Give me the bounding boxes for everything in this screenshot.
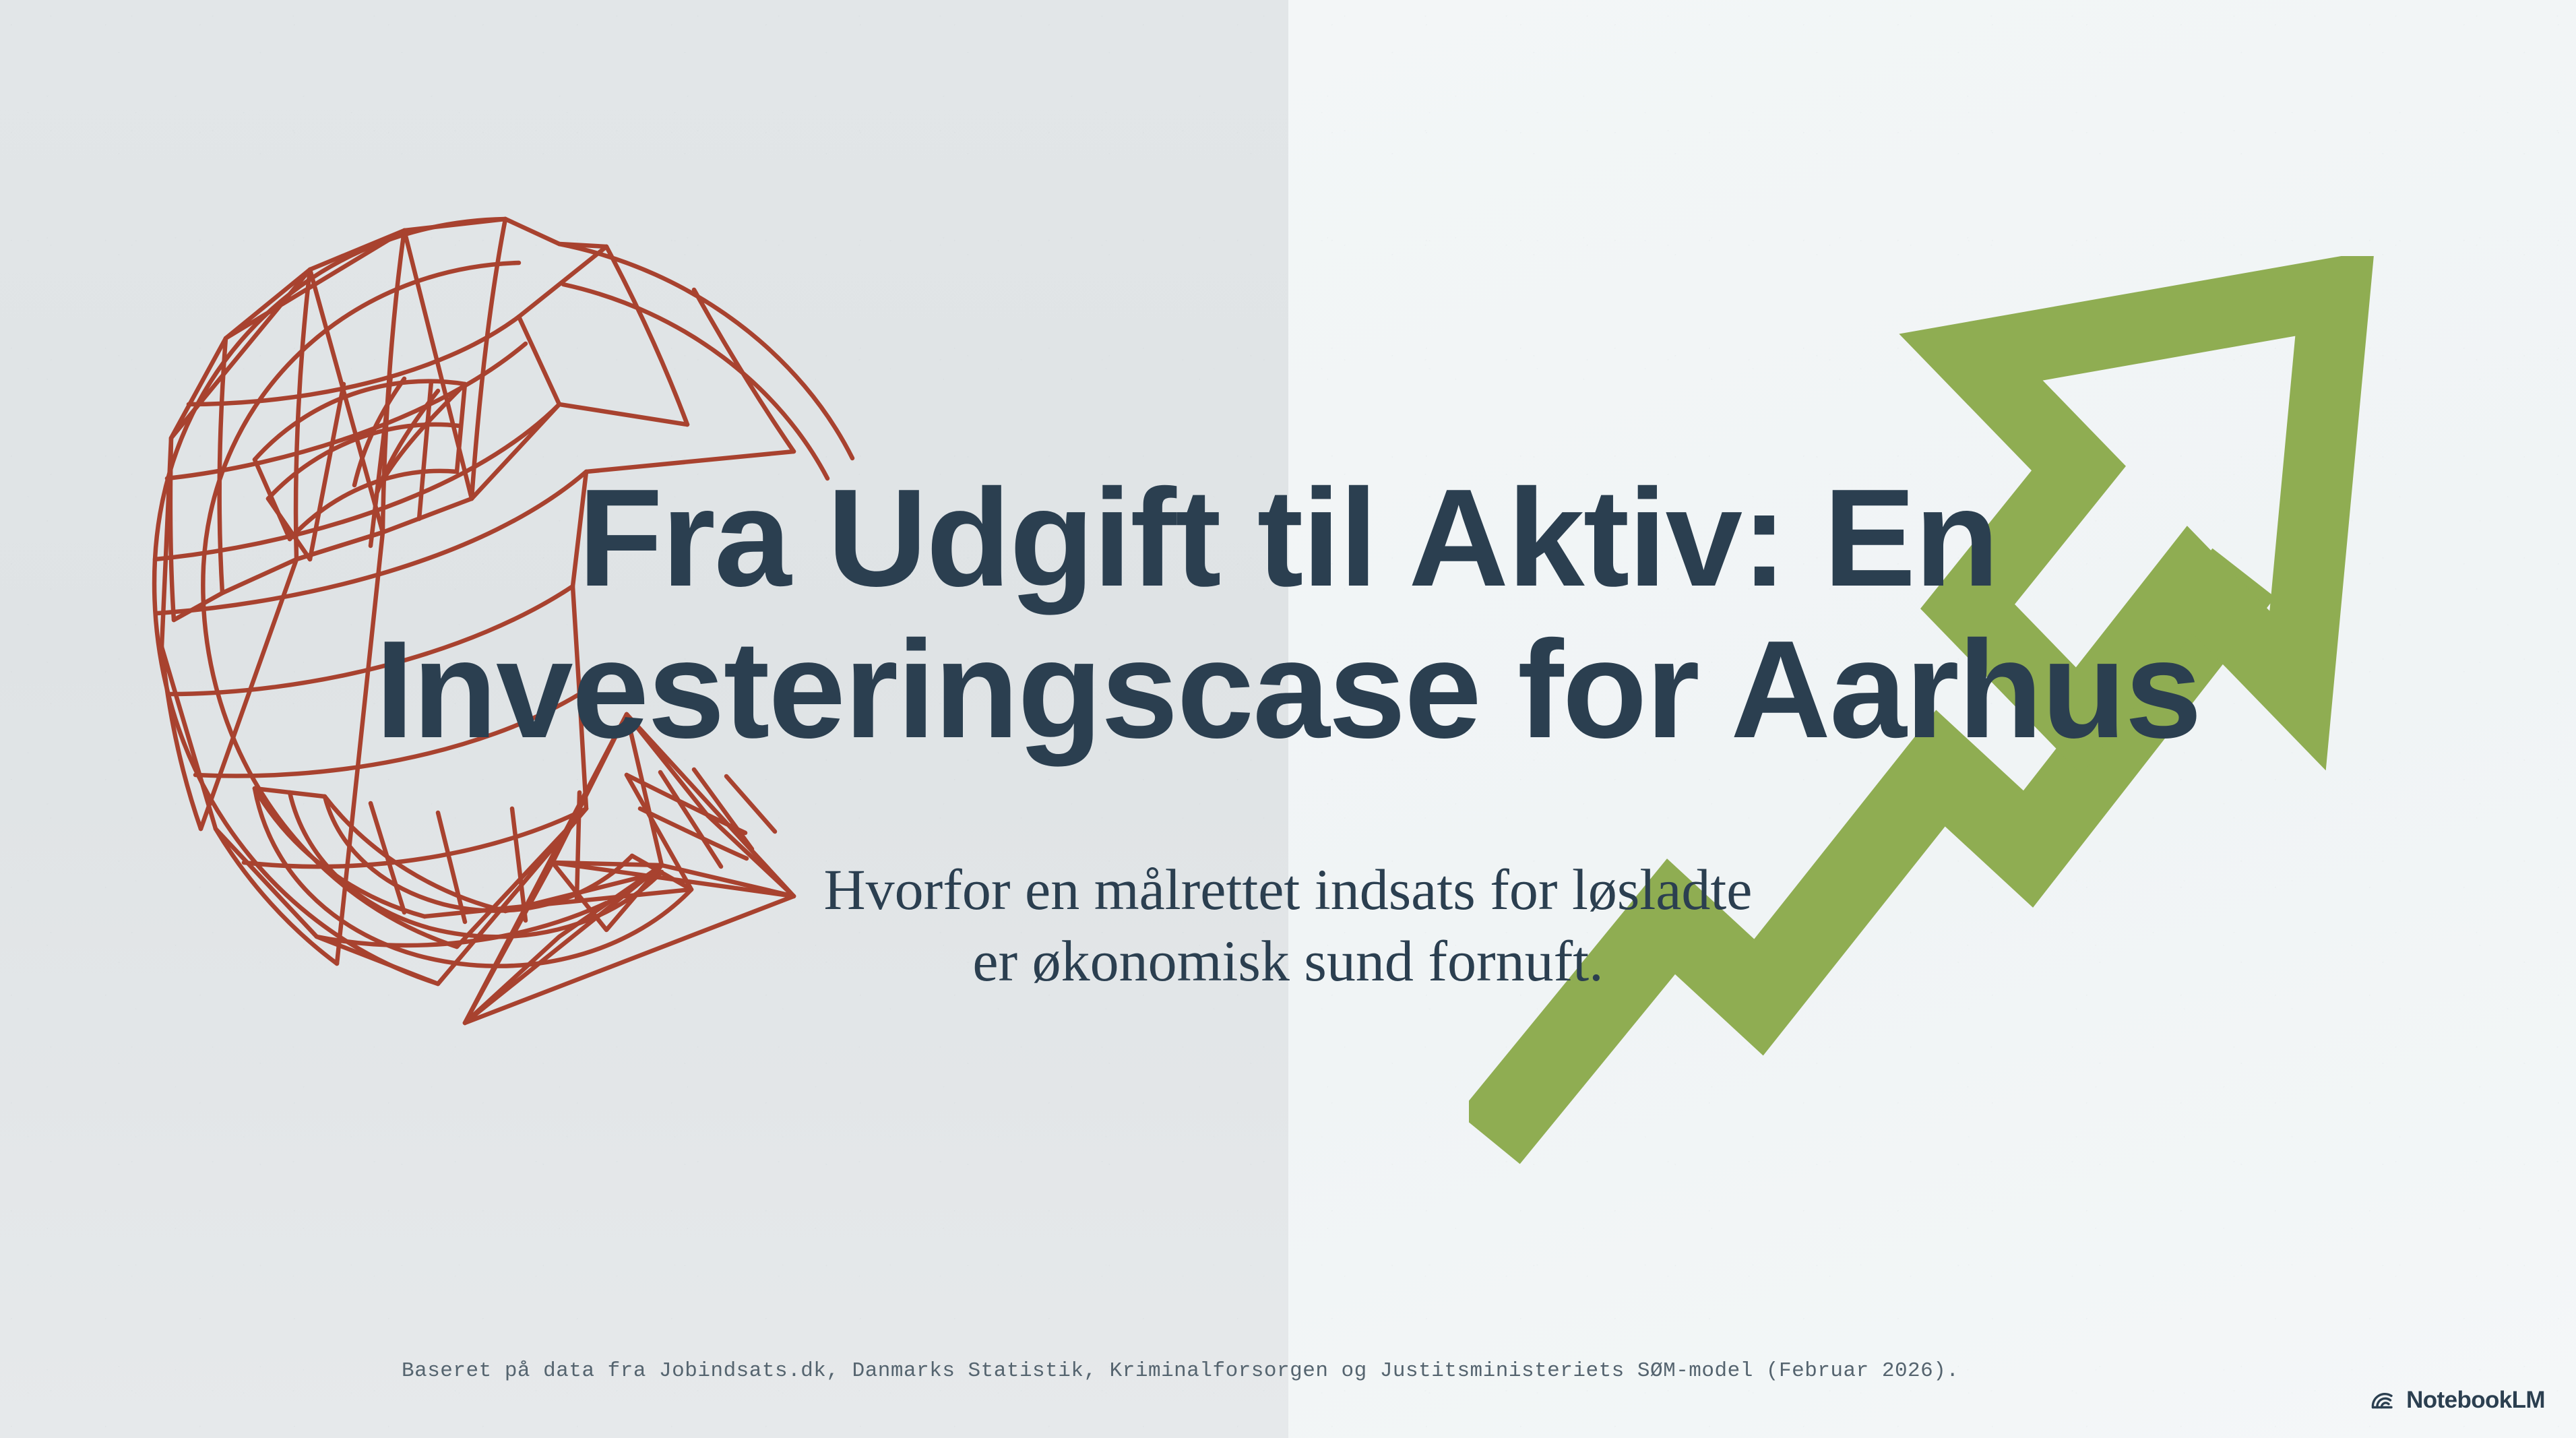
background-right-panel xyxy=(1288,0,2576,1438)
source-note: Baseret på data fra Jobindsats.dk, Danma… xyxy=(402,1359,1959,1383)
notebooklm-badge: NotebookLM xyxy=(2370,1387,2545,1414)
notebooklm-wordmark: NotebookLM xyxy=(2406,1387,2545,1414)
background-left-panel xyxy=(0,0,1288,1438)
slide-canvas: Fra Udgift til Aktiv: En Investeringscas… xyxy=(0,0,2576,1438)
notebooklm-spiral-icon xyxy=(2370,1387,2397,1414)
